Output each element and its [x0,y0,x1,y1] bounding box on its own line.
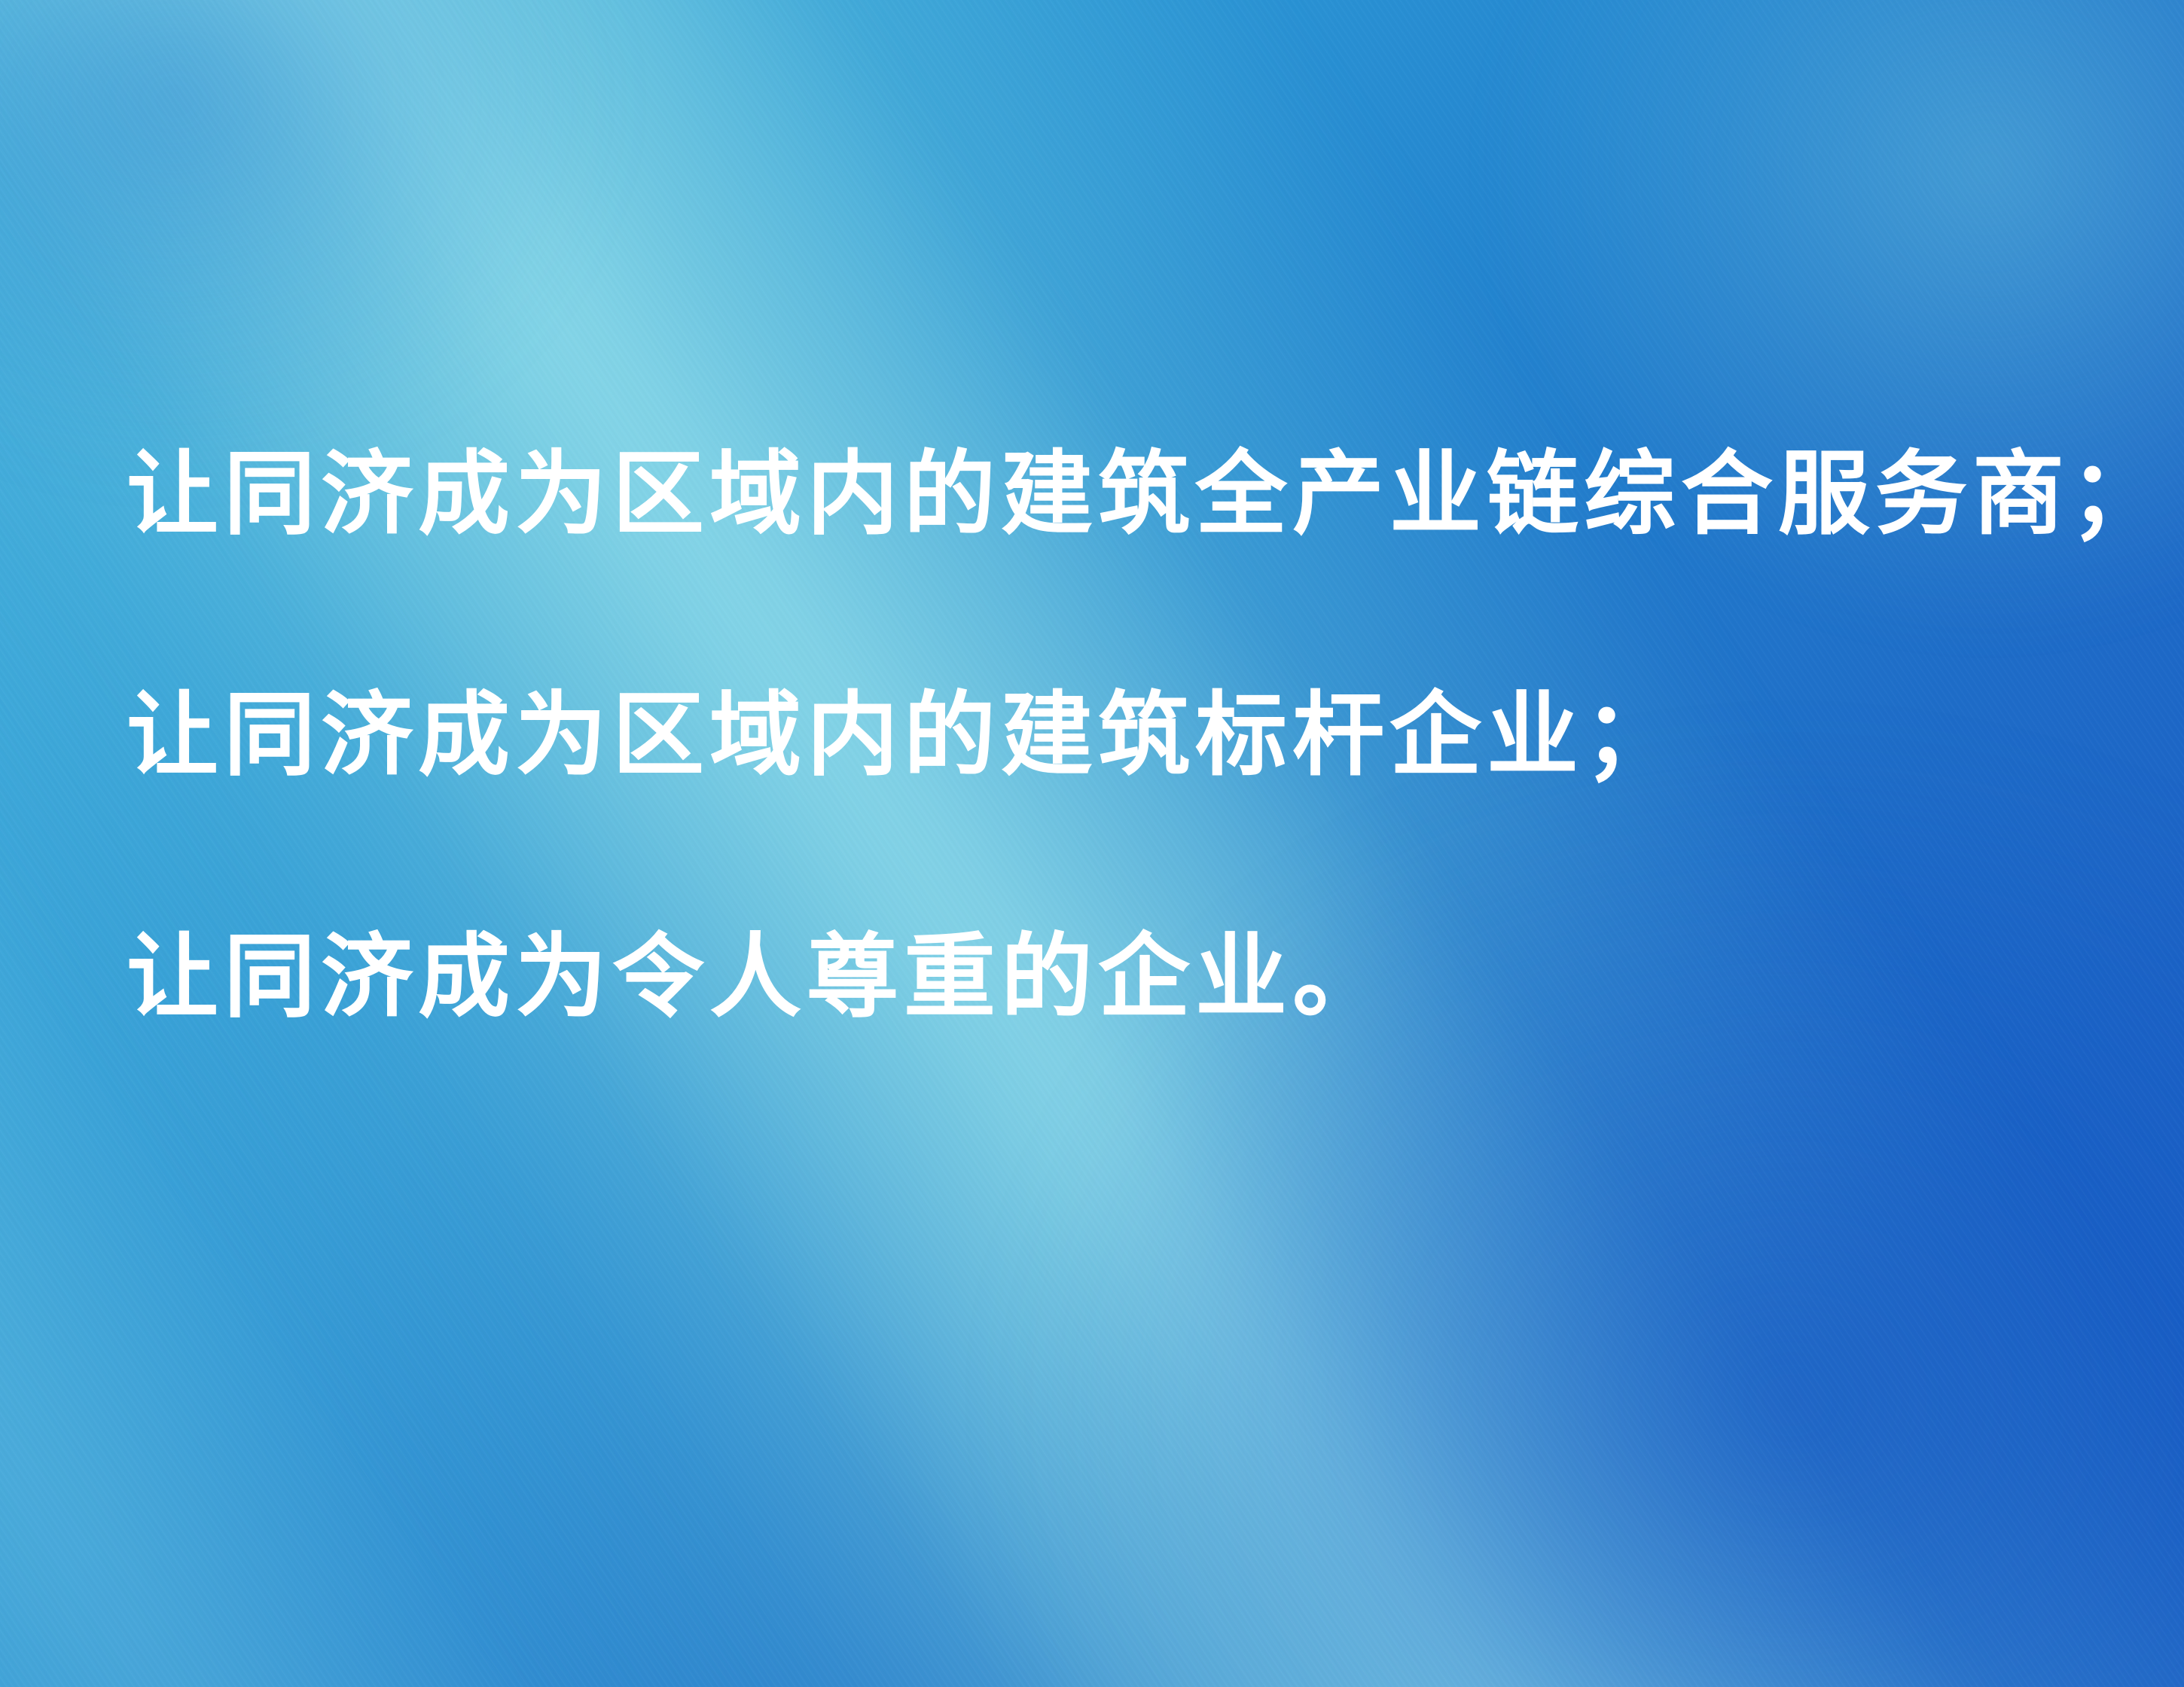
background-shade-top-left [0,0,612,472]
vision-line-2: 让同济成为区域内的建筑标杆企业； [127,690,2085,783]
vision-statement-block: 让同济成为区域内的建筑全产业链综合服务商； 让同济成为区域内的建筑标杆企业； 让… [127,449,2085,1025]
vision-line-1: 让同济成为区域内的建筑全产业链综合服务商； [127,449,2085,542]
vision-line-3: 让同济成为令人尊重的企业。 [127,932,2085,1025]
slide-canvas: 让同济成为区域内的建筑全产业链综合服务商； 让同济成为区域内的建筑标杆企业； 让… [0,0,2184,1687]
